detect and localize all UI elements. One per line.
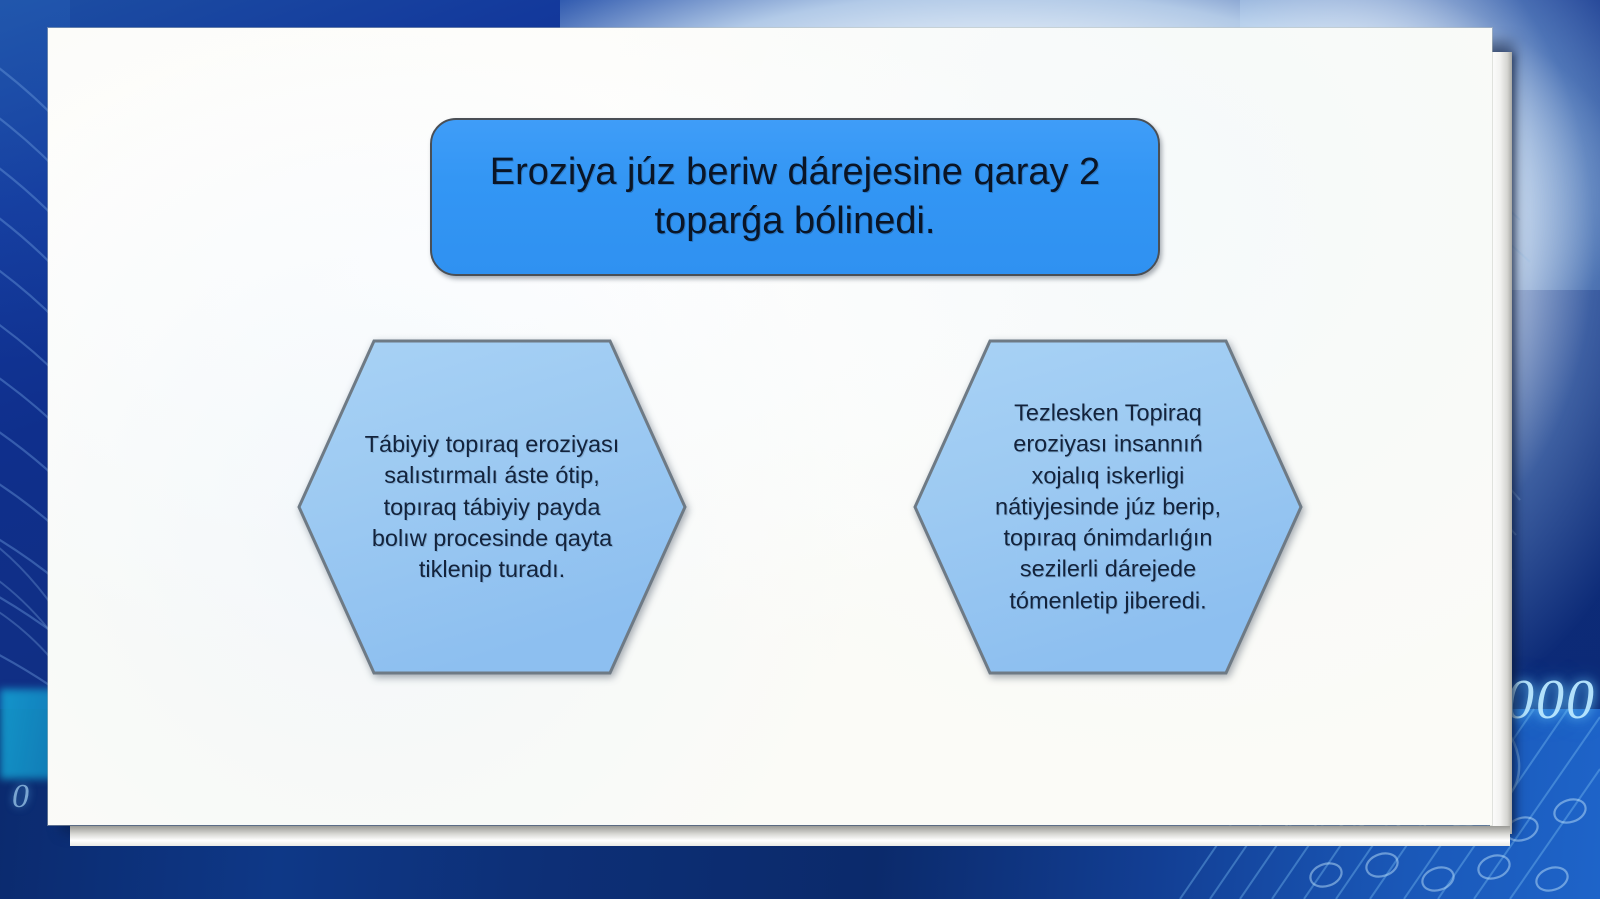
presentation-slide-screenshot: 000 0 Eroziya júz beriw dárejesine qaray… [0, 0, 1600, 899]
title-banner[interactable]: Eroziya júz beriw dárejesine qaray 2 top… [430, 118, 1160, 276]
hexagon-text: Tezlesken Topiraq eroziyası insannıń xoj… [981, 398, 1236, 617]
background-zero-decoration: 0 [12, 778, 29, 816]
hexagon-accelerated-erosion[interactable]: Tezlesken Topiraq eroziyası insannıń xoj… [912, 338, 1304, 676]
hexagon-text: Tábiyiy topıraq eroziyası salıstırmalı á… [358, 429, 626, 585]
background-zeros-decoration: 000 [1506, 668, 1596, 732]
slide-bottom-edge [70, 826, 1510, 846]
slide-canvas: Eroziya júz beriw dárejesine qaray 2 top… [48, 28, 1492, 825]
slide-right-edge [1490, 52, 1512, 834]
hexagon-natural-erosion[interactable]: Tábiyiy topıraq eroziyası salıstırmalı á… [296, 338, 688, 676]
title-text: Eroziya júz beriw dárejesine qaray 2 top… [432, 148, 1158, 245]
